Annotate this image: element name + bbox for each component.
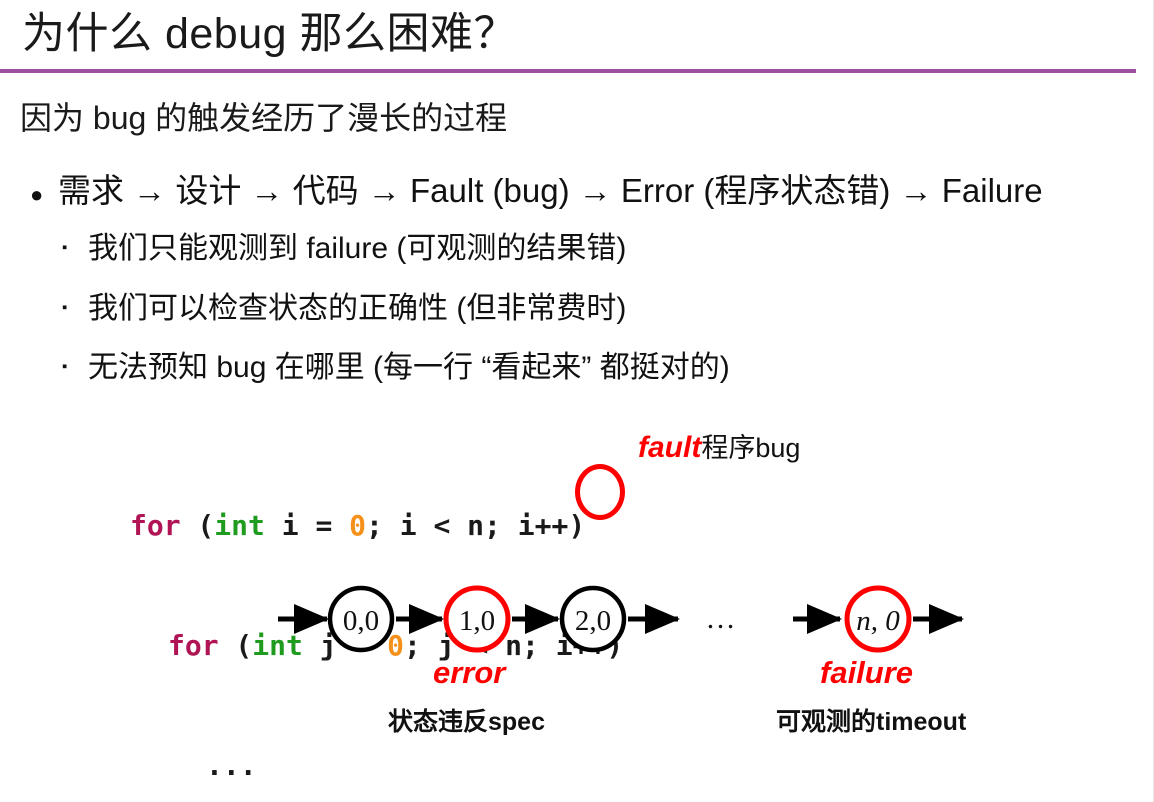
slide: 为什么 debug 那么困难？ 因为 bug 的触发经历了漫长的过程 ● 需求 …	[0, 0, 1154, 802]
bullet-marker-dot-icon: ●	[30, 172, 58, 218]
error-annotation-word: error	[433, 655, 505, 691]
bullet-level2-2: ▪ 我们可以检查状态的正确性 (但非常费时)	[62, 288, 626, 335]
state-node-label-n: n, 0	[856, 605, 900, 637]
code-type-int: int	[214, 509, 265, 542]
bullet-level2-1: ▪ 我们只能观测到 failure (可观测的结果错)	[62, 228, 626, 275]
fault-annotation: fault程序bug	[638, 428, 800, 468]
failure-annotation-cn: 可观测的timeout	[776, 702, 966, 738]
bullet-marker-square-icon: ▪	[62, 346, 88, 388]
fault-annotation-word: fault	[638, 431, 701, 464]
title-divider	[0, 69, 1136, 73]
code-text: ; i < n; i++)	[366, 509, 585, 542]
state-node-label-2: 2,0	[575, 605, 611, 637]
code-number: 0	[349, 509, 366, 542]
code-line-1: for (int i = 0; i < n; i++)	[130, 506, 623, 546]
code-ellipsis: ...	[206, 749, 257, 782]
state-node-label-1: 1,0	[459, 605, 495, 637]
bullet-level2-3-label: 无法预知 bug 在哪里 (每一行 “看起来” 都挺对的)	[88, 347, 730, 389]
page-title: 为什么 debug 那么困难？	[22, 6, 517, 62]
bullet-level1: ● 需求 → 设计 → 代码 → Fault (bug) → Error (程序…	[30, 168, 1043, 218]
bullet-level1-label: 需求 → 设计 → 代码 → Fault (bug) → Error (程序状态…	[58, 168, 1043, 214]
bullet-level2-3: ▪ 无法预知 bug 在哪里 (每一行 “看起来” 都挺对的)	[62, 347, 730, 394]
code-keyword-for: for	[130, 509, 181, 542]
bullet-marker-square-icon: ▪	[62, 287, 88, 329]
fault-annotation-cn: 程序bug	[701, 433, 800, 463]
code-punct: (	[181, 509, 215, 542]
state-node-label-0: 0,0	[343, 605, 379, 637]
failure-annotation-word: failure	[820, 655, 913, 691]
subtitle-text: 因为 bug 的触发经历了漫长的过程	[20, 96, 507, 140]
error-annotation-cn: 状态违反spec	[388, 702, 545, 738]
state-diagram: 0,0 1,0 2,0 … n, 0	[0, 560, 1154, 750]
code-line-3: ...	[130, 746, 623, 786]
code-text: i =	[265, 509, 349, 542]
diagram-ellipsis: …	[706, 602, 739, 635]
bullet-level2-2-label: 我们可以检查状态的正确性 (但非常费时)	[88, 288, 626, 330]
bullet-marker-square-icon: ▪	[62, 227, 88, 269]
bullet-level2-1-label: 我们只能观测到 failure (可观测的结果错)	[88, 228, 626, 270]
